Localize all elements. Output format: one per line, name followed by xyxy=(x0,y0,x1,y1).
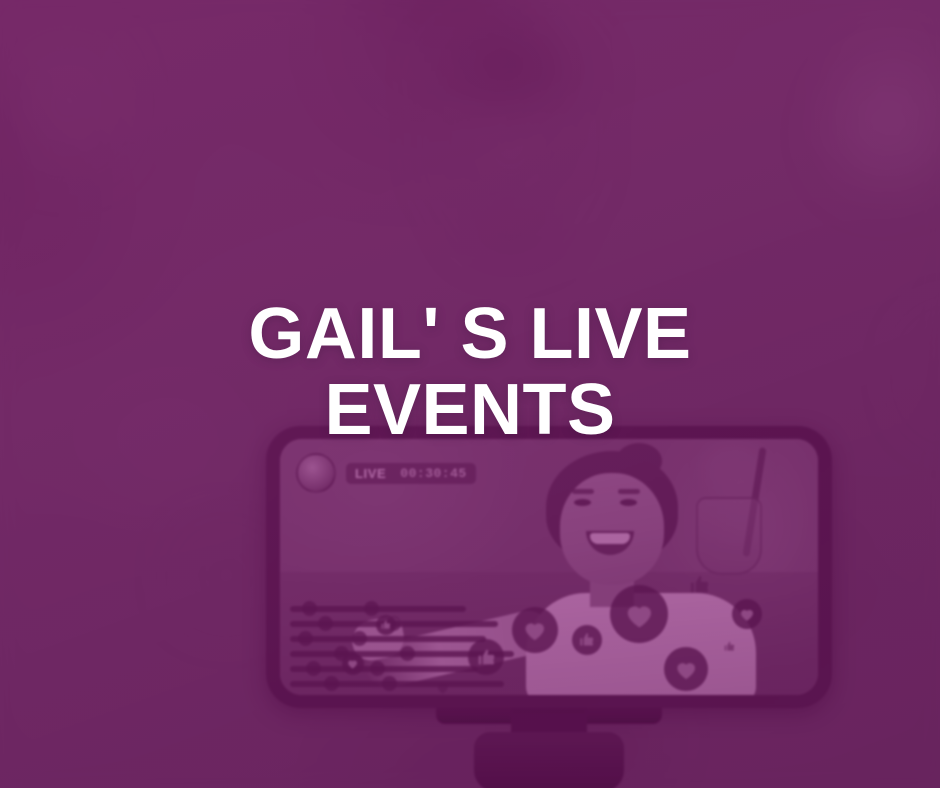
heart-icon xyxy=(664,647,708,691)
heart-icon xyxy=(342,653,364,675)
chat-message-bar xyxy=(290,681,504,687)
chat-avatar-icon xyxy=(302,601,317,616)
streamer-eyebrow-left xyxy=(572,489,594,494)
streamer-eyebrow-right xyxy=(618,489,640,494)
chat-avatar-icon xyxy=(382,676,397,691)
thumbs-up-icon xyxy=(572,625,602,655)
chat-avatar-icon xyxy=(364,601,379,616)
live-badge[interactable]: LIVE 00:30:45 xyxy=(296,453,476,493)
tablet-device: LIVE 00:30:45 xyxy=(266,426,832,708)
streamer-figure xyxy=(512,451,762,693)
thumbs-up-icon xyxy=(376,615,396,635)
chat-message-row xyxy=(290,681,530,687)
live-label: LIVE xyxy=(355,466,386,481)
heart-icon xyxy=(430,675,456,695)
streamer-eye-right xyxy=(620,499,637,506)
thumbs-up-icon xyxy=(680,565,720,605)
thumbs-up-icon xyxy=(718,635,740,657)
chat-avatar-icon xyxy=(352,631,367,646)
live-events-banner: LIVE 00:30:45 GAIL' S LIVE EVENTS xyxy=(0,0,940,788)
live-timer: 00:30:45 xyxy=(400,466,466,481)
streamer-teeth xyxy=(590,533,630,544)
streamer-eye-left xyxy=(574,499,591,506)
streamer-avatar[interactable] xyxy=(296,453,336,493)
thumbs-up-icon xyxy=(468,639,504,675)
tablet-layer: LIVE 00:30:45 xyxy=(0,0,940,788)
chat-avatar-icon xyxy=(324,676,339,691)
chat-message-row xyxy=(290,606,530,612)
chat-avatar-icon xyxy=(318,616,333,631)
heart-icon xyxy=(610,585,668,643)
chat-message-row xyxy=(290,621,530,627)
chat-avatar-icon xyxy=(306,661,321,676)
tablet-stand-base xyxy=(474,732,624,788)
chat-avatar-icon xyxy=(400,646,415,661)
chat-message-bar xyxy=(290,636,486,642)
heart-icon xyxy=(732,599,762,629)
tablet-screen: LIVE 00:30:45 xyxy=(280,439,818,695)
heart-icon xyxy=(512,607,558,653)
chat-avatar-icon xyxy=(298,631,313,646)
live-status-pill: LIVE 00:30:45 xyxy=(346,463,476,484)
chat-avatar-icon xyxy=(370,661,385,676)
